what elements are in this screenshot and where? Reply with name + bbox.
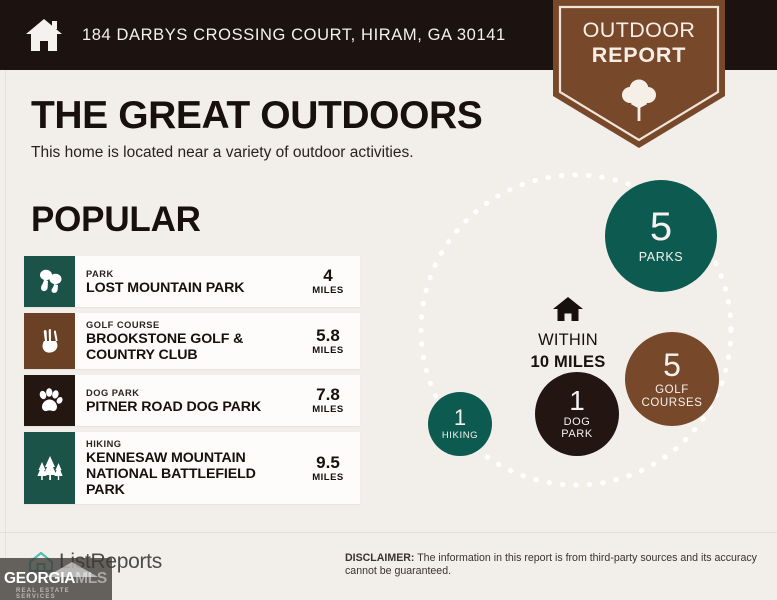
list-item-text: HIKING KENNESAW MOUNTAIN NATIONAL BATTLE…	[75, 432, 304, 504]
golf-tile	[24, 313, 75, 369]
dog-park-tile	[24, 375, 75, 426]
bubble-label: HIKING	[442, 431, 478, 441]
distance-value: 9.5	[316, 454, 340, 472]
list-item-category: GOLF COURSE	[86, 319, 298, 331]
pine-trees-icon	[35, 453, 65, 483]
bubble-label-line1: GOLF	[655, 384, 689, 396]
list-item-text: PARK LOST MOUNTAIN PARK	[75, 256, 304, 307]
badge-line-1: OUTDOOR	[583, 18, 696, 42]
disclaimer-label: DISCLAIMER:	[345, 552, 414, 564]
bubble-dog-park[interactable]: 1 DOG PARK	[535, 372, 619, 456]
outdoor-report-badge: OUTDOOR REPORT	[553, 0, 725, 148]
list-item-text: GOLF COURSE BROOKSTONE GOLF & COUNTRY CL…	[75, 313, 304, 369]
bubble-golf-courses[interactable]: 5 GOLF COURSES	[625, 332, 719, 426]
bubble-label-line2: COURSES	[641, 397, 702, 409]
center-within-block: WITHIN 10 MILES	[508, 295, 628, 372]
within-line-2: 10 MILES	[508, 353, 628, 372]
badge-title: OUTDOOR REPORT	[553, 18, 725, 68]
list-item[interactable]: DOG PARK PITNER ROAD DOG PARK 7.8 MILES	[24, 375, 360, 426]
disclaimer: DISCLAIMER: The information in this repo…	[345, 552, 770, 578]
list-item-distance: 4 MILES	[304, 256, 360, 307]
list-item-name: PITNER ROAD DOG PARK	[86, 399, 298, 415]
list-item[interactable]: GOLF COURSE BROOKSTONE GOLF & COUNTRY CL…	[24, 313, 360, 369]
list-item-distance: 5.8 MILES	[304, 313, 360, 369]
distance-value: 4	[323, 267, 332, 285]
list-item-name: KENNESAW MOUNTAIN NATIONAL BATTLEFIELD P…	[86, 450, 298, 498]
bubble-label-line2: PARK	[561, 429, 593, 441]
footer-divider	[0, 532, 777, 533]
park-tile	[24, 256, 75, 307]
list-item-category: PARK	[86, 268, 298, 280]
park-trees-icon	[35, 267, 65, 297]
distance-value: 7.8	[316, 386, 340, 404]
badge-line-2: REPORT	[553, 43, 725, 68]
paw-print-icon	[35, 386, 65, 416]
outdoor-report-page: 184 DARBYS CROSSING COURT, HIRAM, GA 301…	[0, 0, 777, 600]
bubble-count: 5	[650, 207, 672, 247]
distance-unit: MILES	[312, 404, 344, 415]
distance-unit: MILES	[312, 345, 344, 356]
bubble-count: 1	[454, 407, 466, 429]
header-content: 184 DARBYS CROSSING COURT, HIRAM, GA 301…	[0, 0, 506, 70]
tree-icon	[619, 76, 659, 122]
georgia-mls-watermark: GEORGIAMLS REAL ESTATE SERVICES	[0, 558, 112, 600]
bubble-hiking[interactable]: 1 HIKING	[428, 392, 492, 456]
list-item[interactable]: PARK LOST MOUNTAIN PARK 4 MILES	[24, 256, 360, 307]
bubble-count: 1	[569, 387, 585, 415]
list-item-text: DOG PARK PITNER ROAD DOG PARK	[75, 375, 304, 426]
watermark-georgia: GEORGIA	[4, 570, 75, 587]
section-title-popular: POPULAR	[31, 200, 201, 240]
list-item-category: HIKING	[86, 438, 298, 450]
home-icon	[552, 310, 584, 327]
distance-unit: MILES	[312, 285, 344, 296]
bubble-label: PARKS	[639, 251, 683, 264]
page-subtitle: This home is located near a variety of o…	[31, 144, 414, 162]
home-icon	[24, 17, 64, 53]
list-item-category: DOG PARK	[86, 387, 298, 399]
distance-unit: MILES	[312, 472, 344, 483]
list-item-distance: 7.8 MILES	[304, 375, 360, 426]
bubble-parks[interactable]: 5 PARKS	[605, 180, 717, 292]
list-item-name: BROOKSTONE GOLF & COUNTRY CLUB	[86, 331, 298, 363]
golf-clubs-icon	[35, 326, 65, 356]
list-item-distance: 9.5 MILES	[304, 432, 360, 504]
popular-list: PARK LOST MOUNTAIN PARK 4 MILES	[24, 256, 360, 510]
summary-graphic: 5 PARKS 5 GOLF COURSES 1 DOG PARK 1 HIKI…	[380, 160, 777, 520]
hiking-tile	[24, 432, 75, 504]
watermark-main: GEORGIAMLS	[4, 570, 112, 588]
property-address: 184 DARBYS CROSSING COURT, HIRAM, GA 301…	[82, 26, 506, 45]
list-item-name: LOST MOUNTAIN PARK	[86, 280, 298, 296]
left-edge-divider	[5, 70, 6, 600]
within-miles: 10 MILES	[531, 353, 606, 371]
watermark-mls: MLS	[75, 570, 107, 587]
within-line-1: WITHIN	[508, 331, 628, 350]
list-item[interactable]: HIKING KENNESAW MOUNTAIN NATIONAL BATTLE…	[24, 432, 360, 504]
bubble-count: 5	[663, 349, 681, 381]
page-title: THE GREAT OUTDOORS	[31, 94, 482, 138]
distance-value: 5.8	[316, 327, 340, 345]
watermark-sub: REAL ESTATE SERVICES	[16, 588, 112, 600]
